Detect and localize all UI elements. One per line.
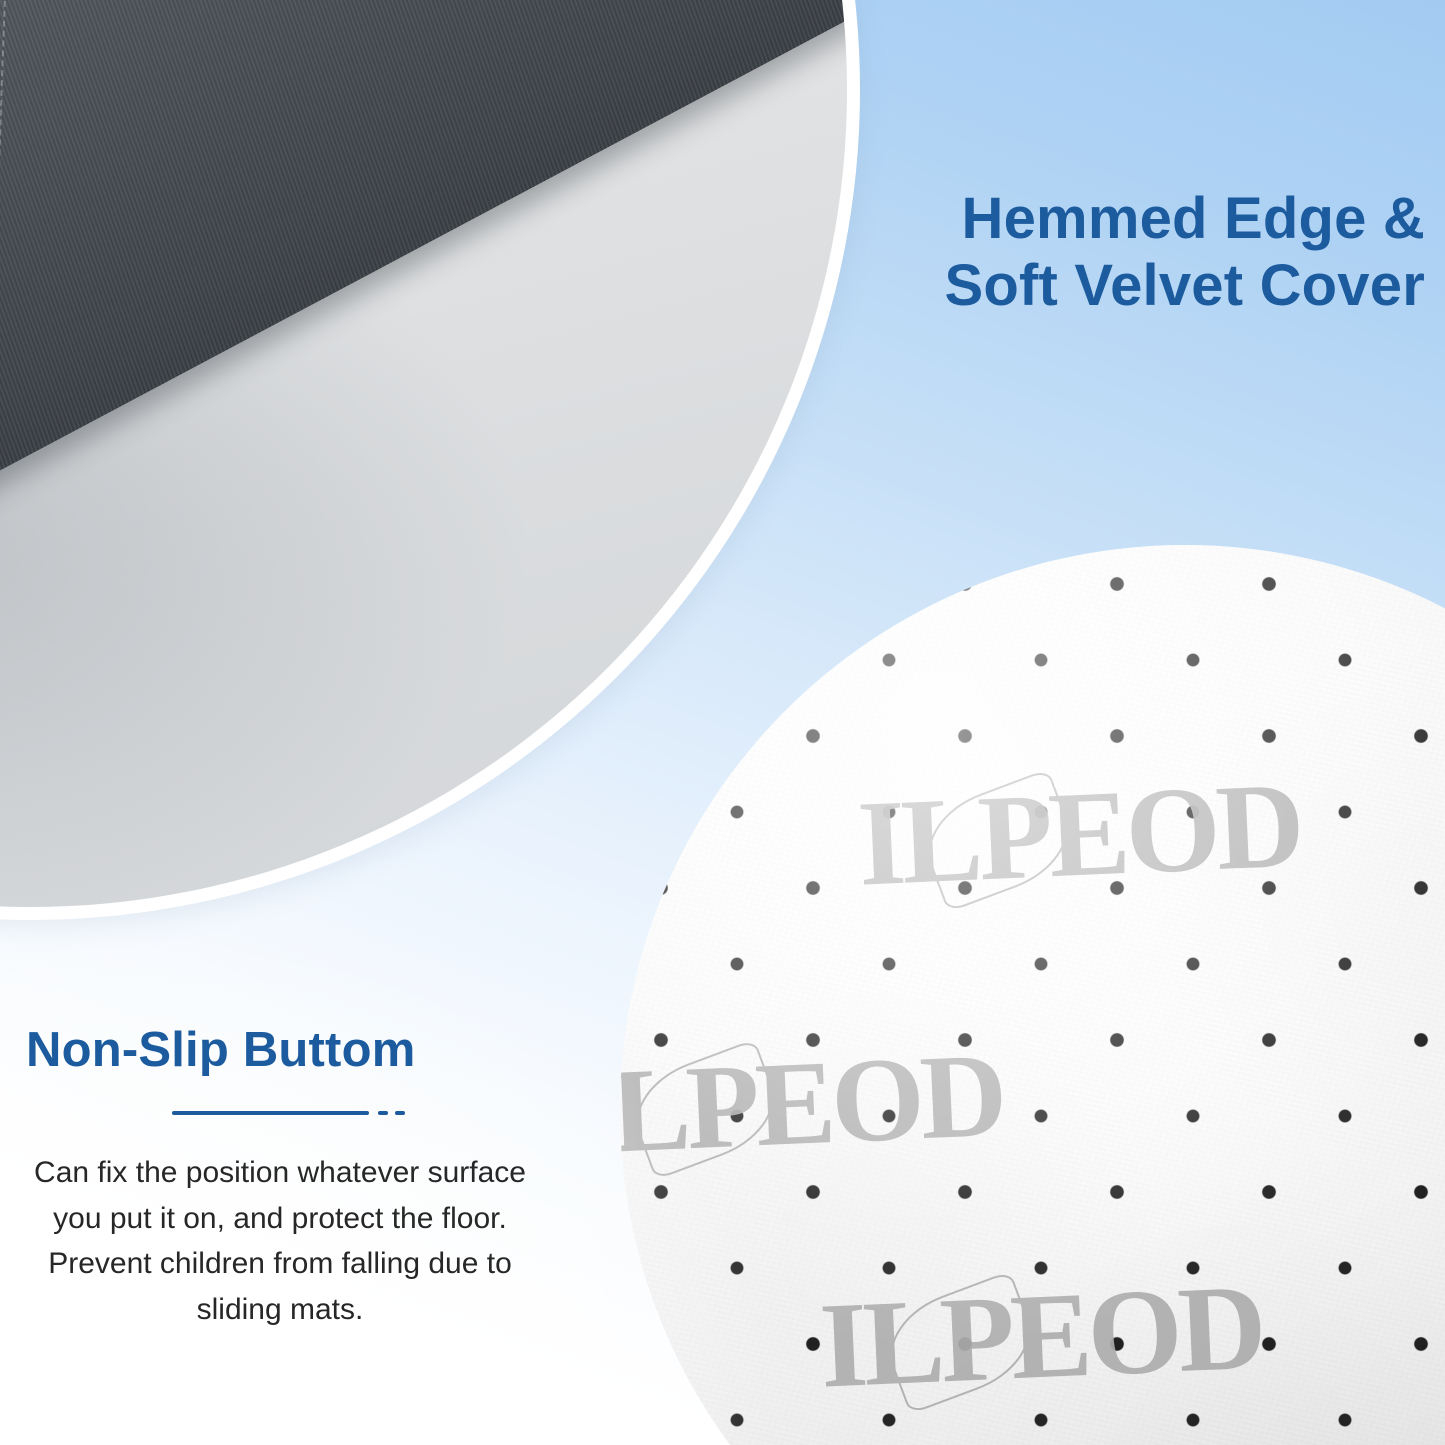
feature-title: Non-Slip Buttom bbox=[0, 1022, 560, 1078]
feature-body-text: Can fix the position whatever surface yo… bbox=[20, 1150, 540, 1332]
headline-line-1: Hemmed Edge & bbox=[962, 186, 1426, 251]
divider-dash-1 bbox=[378, 1111, 388, 1115]
divider-dash-2 bbox=[395, 1111, 405, 1115]
headline: Hemmed Edge & Soft Velvet Cover bbox=[725, 186, 1425, 319]
photo-non-slip-bottom: ILPEOD ILPEOD ILPEOD bbox=[620, 545, 1445, 1445]
mat-side-face bbox=[0, 0, 847, 571]
divider bbox=[0, 1100, 560, 1126]
photo-shading-overlay bbox=[620, 545, 1445, 1445]
feature-block-non-slip: Non-Slip Buttom Can fix the position wha… bbox=[0, 1022, 560, 1332]
divider-bar bbox=[172, 1111, 369, 1115]
headline-line-2: Soft Velvet Cover bbox=[725, 253, 1425, 320]
product-feature-image: ILPEOD ILPEOD ILPEOD Hemmed Edge & Soft … bbox=[0, 0, 1445, 1445]
